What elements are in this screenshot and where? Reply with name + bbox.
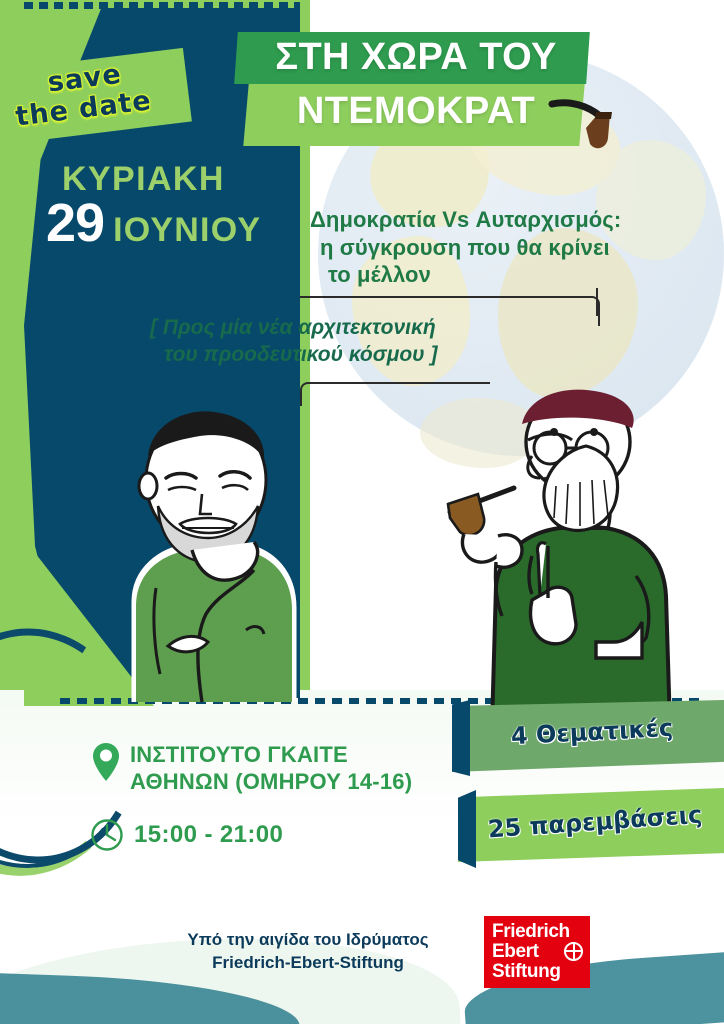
venue-text: ΙΝΣΤΙΤΟΥΤΟ ΓΚΑΙΤΕ ΑΘΗΝΩΝ (ΟΜΗΡΟΥ 14-16) <box>130 742 412 796</box>
poster-bracket-text: [ Προς μία νέα αρχιτεκτονική του προοδευ… <box>150 314 530 369</box>
event-date-row: 29 ΙΟΥΝΙΟΥ <box>46 196 282 250</box>
subtitle-line1: Δημοκρατία Vs Αυταρχισμός: <box>310 206 702 234</box>
poster-canvas: save the date ΚΥΡΙΑΚΗ 29 ΙΟΥΝΙΟΥ ΣΤΗ ΧΩΡ… <box>0 0 724 1024</box>
poster-title-line2: ΝΤΕΜΟΚΡΑΤ <box>250 90 582 133</box>
fes-globe-icon <box>564 942 583 961</box>
old-man-with-pipe-caricature <box>436 386 694 726</box>
footer-text: Υπό την αιγίδα του Ιδρύματος Friedrich-E… <box>150 929 466 975</box>
clock-icon <box>90 818 124 852</box>
bracket-line1: [ Προς μία νέα αρχιτεκτονική <box>150 314 530 341</box>
fes-logo: Friedrich Ebert Stiftung <box>484 916 590 988</box>
subtitle-line2: η σύγκρουση που θα κρίνει <box>310 234 702 262</box>
event-month: ΙΟΥΝΙΟΥ <box>113 211 261 250</box>
bearded-man-caricature <box>96 402 312 702</box>
poster-title-line1: ΣΤΗ ΧΩΡΑ ΤΟΥ <box>246 36 586 79</box>
venue-line2: ΑΘΗΝΩΝ (ΟΜΗΡΟΥ 14-16) <box>130 769 412 796</box>
subtitle-line3: το μέλλον <box>310 261 702 289</box>
time-info: 15:00 - 21:00 <box>90 818 283 852</box>
smoking-pipe-icon <box>548 98 622 160</box>
poster-subtitle: Δημοκρατία Vs Αυταρχισμός: η σύγκρουση π… <box>310 206 702 289</box>
time-value: 15:00 - 21:00 <box>134 821 283 849</box>
pointer-line-upper-tail <box>596 288 598 316</box>
badge-ribbon-1-tab <box>452 700 470 776</box>
venue-line1: ΙΝΣΤΙΤΟΥΤΟ ΓΚΑΙΤΕ <box>130 742 412 769</box>
event-date-block: ΚΥΡΙΑΚΗ 29 ΙΟΥΝΙΟΥ <box>46 162 282 250</box>
venue-info: ΙΝΣΤΙΤΟΥΤΟ ΓΚΑΙΤΕ ΑΘΗΝΩΝ (ΟΜΗΡΟΥ 14-16) <box>92 742 412 796</box>
fes-logo-line1: Friedrich <box>492 922 590 942</box>
dashed-border-top <box>24 2 300 9</box>
footer-line2: Friedrich-Ebert-Stiftung <box>150 952 466 975</box>
fes-logo-line3: Stiftung <box>492 962 590 982</box>
footer-credits: Υπό την αιγίδα του Ιδρύματος Friedrich-E… <box>150 916 590 988</box>
footer-line1: Υπό την αιγίδα του Ιδρύματος <box>150 929 466 952</box>
event-day-number: 29 <box>46 196 104 250</box>
location-pin-icon <box>92 742 120 782</box>
bracket-line2: του προοδευτικού κόσμου ] <box>150 341 530 368</box>
